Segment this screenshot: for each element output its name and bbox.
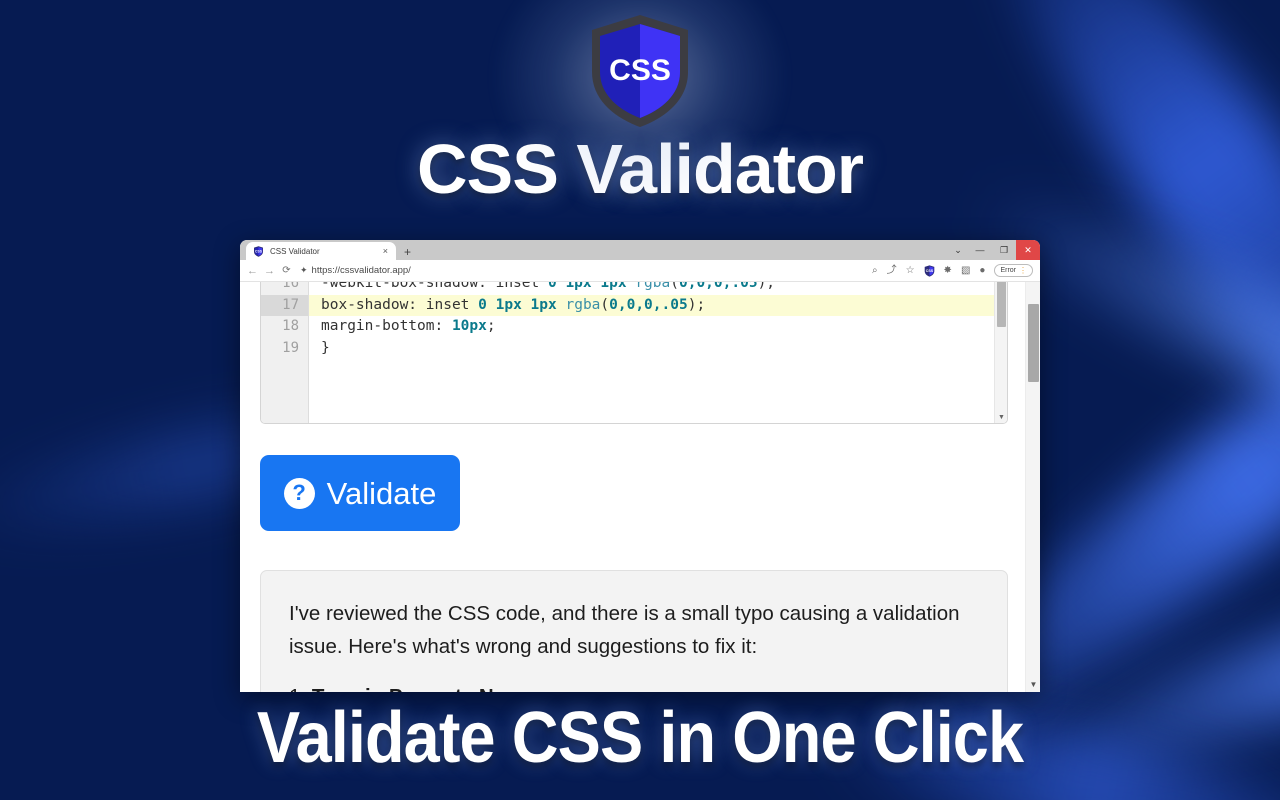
extensions-puzzle-icon[interactable]: ✸: [944, 266, 952, 276]
code-token: -webkit-box-shadow: inset: [321, 282, 548, 291]
code-token: }: [321, 340, 330, 356]
page-scrollbar[interactable]: ▼: [1025, 282, 1040, 692]
reload-button[interactable]: ⟳: [278, 265, 295, 276]
code-token: 0,0,0,.05: [609, 297, 688, 313]
page-content: 16171819 -webkit-box-shadow: inset 0 1px…: [240, 282, 1025, 692]
page-viewport: 16171819 -webkit-box-shadow: inset 0 1px…: [240, 282, 1040, 692]
code-token: rgba: [635, 282, 670, 291]
svg-text:CSS: CSS: [925, 269, 933, 273]
toolbar-icon-group: ⌕ ⤴ ☆ CSS ✸ ▧ ● Error ⋮: [872, 264, 1036, 277]
code-token: [487, 297, 496, 313]
question-mark-icon: ?: [284, 478, 315, 509]
code-token: 0: [548, 282, 557, 291]
minimize-button[interactable]: —: [968, 240, 992, 260]
code-token: ;: [487, 318, 496, 334]
code-token: 0,0,0,.05: [679, 282, 758, 291]
line-number: 18: [261, 316, 308, 338]
error-badge-label: Error: [1000, 267, 1016, 274]
code-line[interactable]: -webkit-box-shadow: inset 0 1px 1px rgba…: [309, 282, 994, 295]
hero-section: CSS CSS Validator: [0, 0, 1280, 204]
bookmark-star-icon[interactable]: ☆: [906, 266, 915, 276]
zoom-icon[interactable]: ⌕: [872, 266, 878, 276]
window-controls: ⌄ — ❐ ✕: [948, 240, 1040, 260]
error-badge-menu-icon[interactable]: ⋮: [1019, 267, 1027, 275]
code-line[interactable]: margin-bottom: 10px;: [309, 316, 994, 338]
share-icon[interactable]: ⤴: [887, 266, 897, 276]
code-token: 1px: [600, 282, 626, 291]
address-bar[interactable]: ✦ https://cssvalidator.app/: [300, 265, 872, 276]
code-token: 1px: [496, 297, 522, 313]
tab-search-chevron-icon[interactable]: ⌄: [948, 240, 968, 260]
back-button[interactable]: ←: [244, 265, 261, 277]
code-token: (: [670, 282, 679, 291]
browser-tab-title: CSS Validator: [270, 247, 380, 256]
profile-avatar-icon[interactable]: ●: [979, 266, 985, 276]
code-token: box-shadow: inset: [321, 297, 478, 313]
validation-result-panel: I've reviewed the CSS code, and there is…: [260, 570, 1008, 692]
validate-button-label: Validate: [327, 478, 437, 509]
page-scroll-down-icon[interactable]: ▼: [1028, 681, 1039, 689]
code-token: 10px: [452, 318, 487, 334]
line-number-gutter: 16171819: [261, 282, 309, 423]
error-badge[interactable]: Error ⋮: [994, 264, 1033, 277]
code-token: 1px: [565, 282, 591, 291]
css-code-editor[interactable]: 16171819 -webkit-box-shadow: inset 0 1px…: [260, 282, 1008, 424]
css-shield-logo: CSS: [585, 12, 695, 130]
css-shield-favicon: CSS: [253, 246, 264, 257]
side-panel-icon[interactable]: ▧: [961, 266, 970, 276]
browser-tab-strip: CSS CSS Validator × + ⌄ — ❐ ✕: [240, 240, 1040, 260]
editor-scroll-down-icon[interactable]: ▼: [997, 414, 1006, 421]
code-token: 1px: [531, 297, 557, 313]
line-number: 17: [261, 295, 308, 317]
code-token: 0: [478, 297, 487, 313]
code-token: );: [688, 297, 705, 313]
browser-window: CSS CSS Validator × + ⌄ — ❐ ✕ ← → ⟳ ✦ ht…: [240, 240, 1040, 692]
result-paragraph: I've reviewed the CSS code, and there is…: [289, 597, 981, 663]
result-item-title: Typo in Property Name:: [312, 685, 542, 692]
line-number: 16: [261, 282, 308, 295]
code-token: margin-bottom:: [321, 318, 452, 334]
validate-button[interactable]: ? Validate: [260, 455, 460, 531]
new-tab-button[interactable]: +: [404, 246, 411, 258]
browser-toolbar: ← → ⟳ ✦ https://cssvalidator.app/ ⌕ ⤴ ☆ …: [240, 260, 1040, 282]
browser-tab[interactable]: CSS CSS Validator ×: [246, 242, 396, 260]
page-scrollbar-thumb[interactable]: [1028, 304, 1039, 382]
close-window-button[interactable]: ✕: [1016, 240, 1040, 260]
line-number: 19: [261, 338, 308, 360]
code-line[interactable]: }: [309, 338, 994, 360]
tagline: Validate CSS in One Click: [64, 702, 1216, 774]
editor-scrollbar[interactable]: ▼: [994, 282, 1007, 423]
code-line[interactable]: box-shadow: inset 0 1px 1px rgba(0,0,0,.…: [309, 295, 994, 317]
css-extension-icon[interactable]: CSS: [924, 265, 935, 277]
svg-text:CSS: CSS: [255, 249, 263, 253]
code-token: rgba: [565, 297, 600, 313]
maximize-button[interactable]: ❐: [992, 240, 1016, 260]
editor-scrollbar-thumb[interactable]: [997, 282, 1006, 327]
code-token: [522, 297, 531, 313]
url-text: https://cssvalidator.app/: [312, 265, 411, 276]
code-token: (: [600, 297, 609, 313]
logo-text: CSS: [609, 54, 671, 87]
code-lines[interactable]: -webkit-box-shadow: inset 0 1px 1px rgba…: [309, 282, 994, 423]
code-token: );: [758, 282, 775, 291]
forward-button[interactable]: →: [261, 265, 278, 277]
result-item-heading: 1. Typo in Property Name:: [289, 685, 981, 692]
site-info-icon: ✦: [300, 265, 308, 276]
tab-close-icon[interactable]: ×: [380, 247, 391, 256]
result-item-number: 1.: [289, 685, 306, 692]
